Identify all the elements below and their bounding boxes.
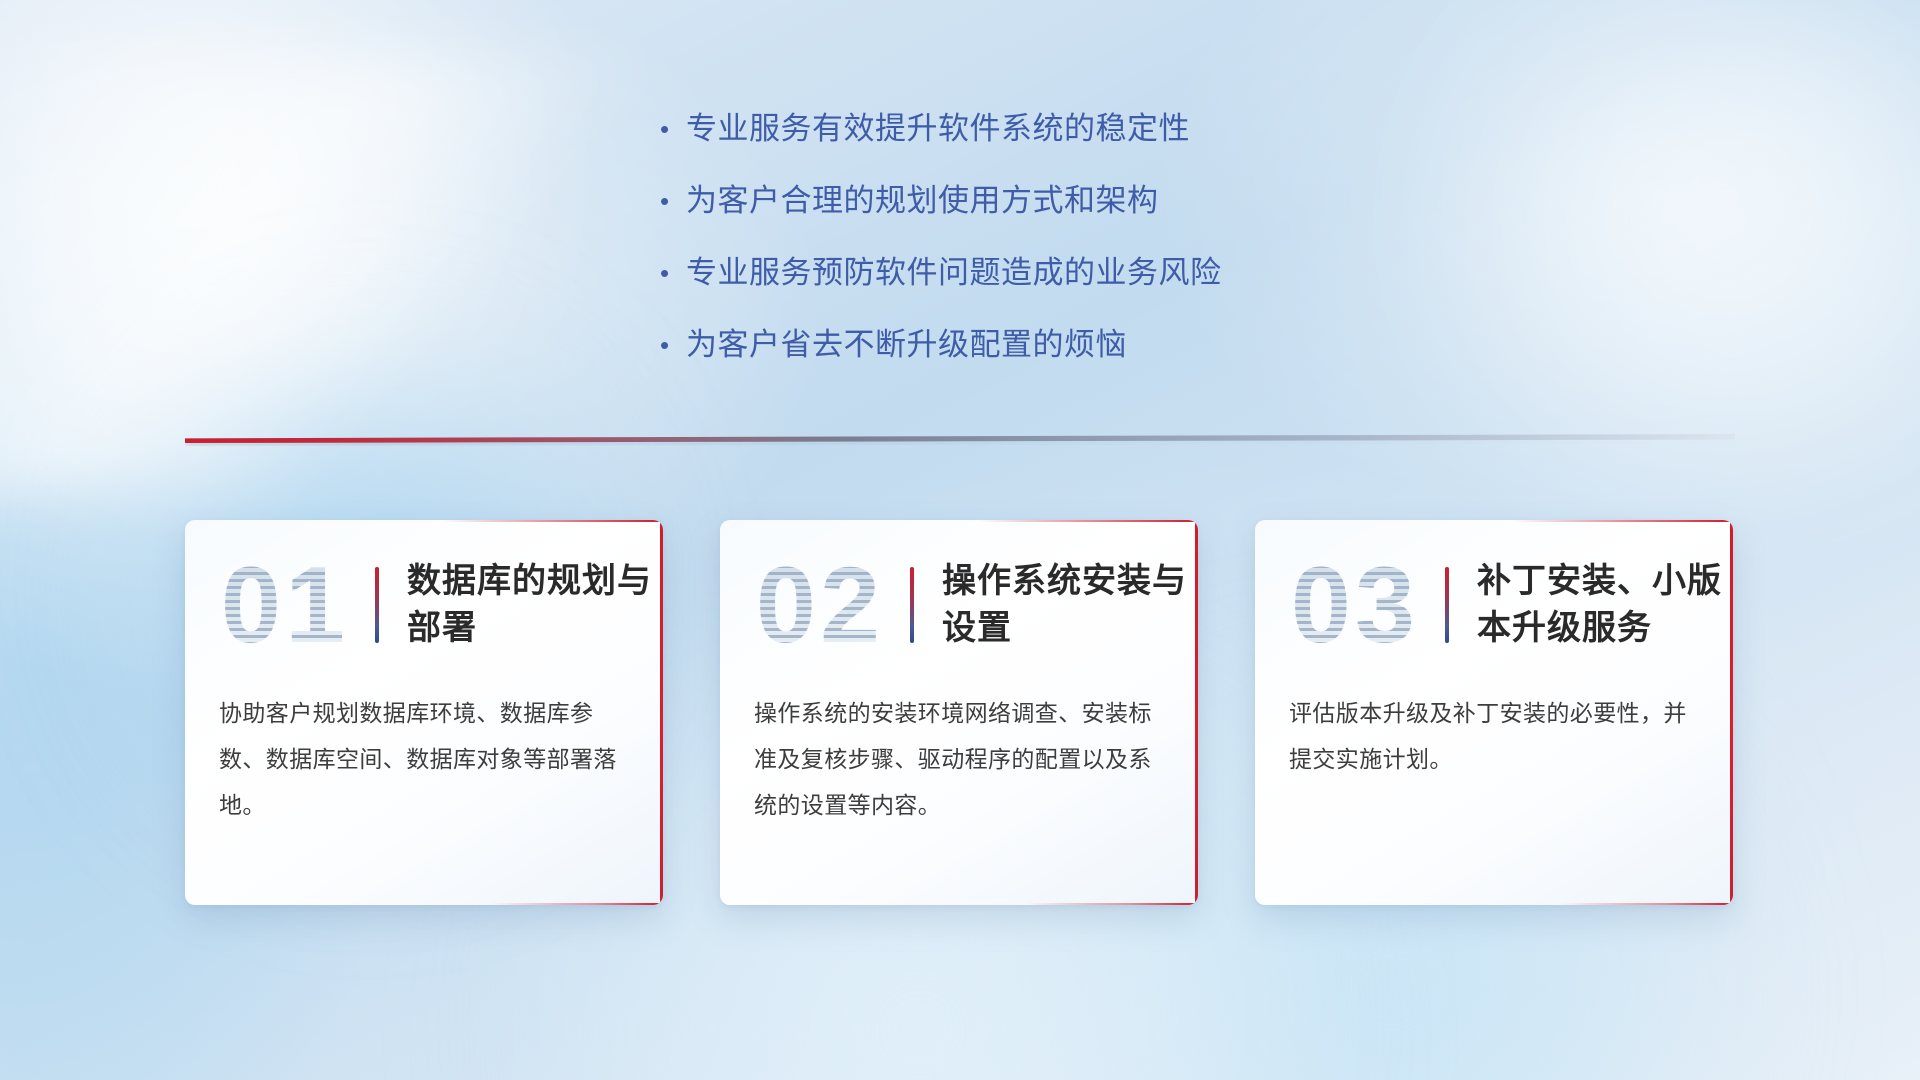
benefits-bullet-list: • 专业服务有效提升软件系统的稳定性 • 为客户合理的规划使用方式和架构 • 专…	[660, 108, 1420, 396]
card-title-separator-bar	[1445, 567, 1449, 643]
bullet-item: • 专业服务有效提升软件系统的稳定性	[660, 108, 1420, 150]
background-light-streak	[0, 60, 702, 490]
bullet-item-label: 为客户合理的规划使用方式和架构	[686, 180, 1159, 222]
card-title: 数据库的规划与部署	[407, 558, 663, 652]
card-title-separator-bar	[375, 567, 379, 643]
card-header: 01 数据库的规划与部署	[185, 520, 663, 690]
card-body-text: 操作系统的安装环境网络调查、安装标准及复核步骤、驱动程序的配置以及系统的设置等内…	[720, 690, 1198, 828]
card-number-watermark: 02	[736, 551, 904, 659]
background-glow-top-left	[0, 0, 640, 500]
card-title: 补丁安装、小版本升级服务	[1477, 558, 1733, 652]
card-accent-bottom-edge	[1561, 903, 1733, 905]
service-card[interactable]: 03 补丁安装、小版本升级服务 评估版本升级及补丁安装的必要性，并提交实施计划。	[1255, 520, 1733, 905]
card-header: 03 补丁安装、小版本升级服务	[1255, 520, 1733, 690]
section-divider	[185, 434, 1735, 443]
card-body-text: 协助客户规划数据库环境、数据库参数、数据库空间、数据库对象等部署落地。	[185, 690, 663, 828]
card-title-separator-bar	[910, 567, 914, 643]
card-title: 操作系统安装与设置	[942, 558, 1198, 652]
slide-canvas: • 专业服务有效提升软件系统的稳定性 • 为客户合理的规划使用方式和架构 • 专…	[0, 0, 1920, 1080]
service-card[interactable]: 01 数据库的规划与部署 协助客户规划数据库环境、数据库参数、数据库空间、数据库…	[185, 520, 663, 905]
bullet-dot-icon: •	[660, 180, 686, 222]
bullet-item-label: 专业服务预防软件问题造成的业务风险	[686, 252, 1222, 294]
bullet-dot-icon: •	[660, 252, 686, 294]
card-accent-bottom-edge	[1026, 903, 1198, 905]
bullet-item: • 专业服务预防软件问题造成的业务风险	[660, 252, 1420, 294]
bullet-item-label: 专业服务有效提升软件系统的稳定性	[686, 108, 1190, 150]
bullet-item-label: 为客户省去不断升级配置的烦恼	[686, 324, 1127, 366]
bullet-dot-icon: •	[660, 108, 686, 150]
card-header: 02 操作系统安装与设置	[720, 520, 1198, 690]
bullet-dot-icon: •	[660, 324, 686, 366]
card-body-text: 评估版本升级及补丁安装的必要性，并提交实施计划。	[1255, 690, 1733, 782]
background-glow-top-right	[1340, 0, 1920, 500]
service-card-list: 01 数据库的规划与部署 协助客户规划数据库环境、数据库参数、数据库空间、数据库…	[185, 520, 1735, 920]
service-card[interactable]: 02 操作系统安装与设置 操作系统的安装环境网络调查、安装标准及复核步骤、驱动程…	[720, 520, 1198, 905]
card-number-watermark: 03	[1271, 551, 1439, 659]
card-number-watermark: 01	[201, 551, 369, 659]
bullet-item: • 为客户合理的规划使用方式和架构	[660, 180, 1420, 222]
bullet-item: • 为客户省去不断升级配置的烦恼	[660, 324, 1420, 366]
card-accent-bottom-edge	[491, 903, 663, 905]
